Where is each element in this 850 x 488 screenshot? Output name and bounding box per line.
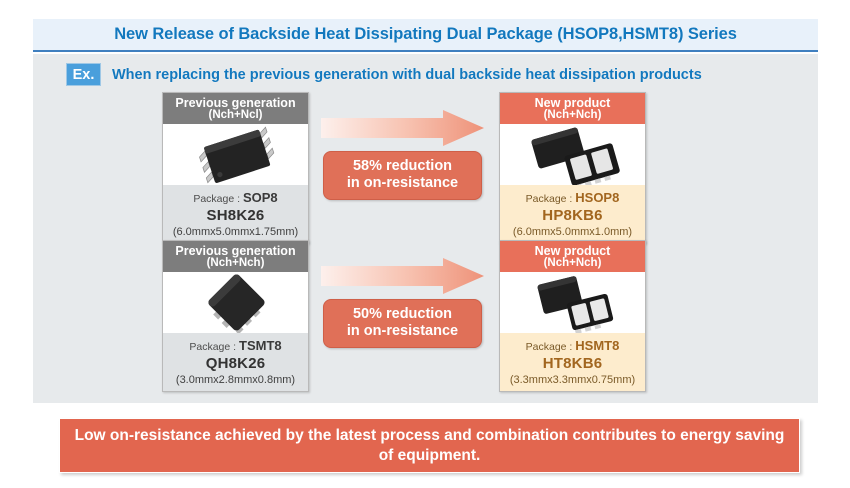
- card-header: New product (Nch+Nch): [500, 93, 645, 124]
- comparison-row: Previous generation (Nch+Nch): [33, 240, 818, 380]
- reduction-line-1: 58% reduction: [324, 158, 481, 175]
- package-line: Package : SOP8: [165, 189, 306, 207]
- package-dimensions: (3.0mmx2.8mmx0.8mm): [165, 374, 306, 386]
- example-badge: Ex.: [66, 63, 101, 86]
- new-product-card: New product (Nch+Nch): [499, 240, 646, 392]
- card-header-title: New product: [535, 97, 611, 110]
- package-dimensions: (6.0mmx5.0mmx1.75mm): [165, 226, 306, 238]
- sop8-package-photo: [163, 124, 308, 185]
- package-line: Package : TSMT8: [165, 337, 306, 355]
- card-footer: Package : HSMT8 HT8KB6 (3.3mmx3.3mmx0.75…: [500, 333, 645, 391]
- package-value: HSOP8: [575, 190, 619, 205]
- card-header-subtitle: (Nch+Nch): [207, 258, 265, 270]
- package-dimensions: (6.0mmx5.0mmx1.0mm): [502, 226, 643, 238]
- slide-root: New Release of Backside Heat Dissipating…: [0, 0, 850, 488]
- card-header: New product (Nch+Nch): [500, 241, 645, 272]
- previous-generation-card: Previous generation (Nch+Nch): [162, 240, 309, 392]
- card-header-subtitle: (Nch+Ncl): [209, 110, 263, 122]
- summary-banner-text: Low on-resistance achieved by the latest…: [74, 426, 785, 466]
- right-arrow-icon: [321, 110, 484, 146]
- slide-title-band: New Release of Backside Heat Dissipating…: [33, 19, 818, 52]
- package-label: Package :: [526, 193, 576, 205]
- right-arrow-icon: [321, 258, 484, 294]
- package-label: Package :: [526, 341, 576, 353]
- package-line: Package : HSOP8: [502, 189, 643, 207]
- tsmt8-package-photo: [163, 272, 308, 333]
- page-title: New Release of Backside Heat Dissipating…: [114, 25, 737, 44]
- reduction-line-2: in on-resistance: [324, 323, 481, 340]
- part-number: HP8KB6: [502, 208, 643, 225]
- card-header-title: New product: [535, 245, 611, 258]
- package-dimensions: (3.3mmx3.3mmx0.75mm): [502, 374, 643, 386]
- package-value: SOP8: [243, 190, 278, 205]
- example-row: Ex. When replacing the previous generati…: [66, 63, 702, 86]
- part-number: SH8K26: [165, 208, 306, 225]
- previous-generation-card: Previous generation (Nch+Ncl): [162, 92, 309, 244]
- reduction-line-1: 50% reduction: [324, 306, 481, 323]
- card-header: Previous generation (Nch+Ncl): [163, 93, 308, 124]
- package-value: HSMT8: [575, 338, 619, 353]
- reduction-badge: 58% reduction in on-resistance: [323, 151, 482, 200]
- card-header-subtitle: (Nch+Nch): [544, 110, 602, 122]
- part-number: QH8K26: [165, 356, 306, 373]
- card-header: Previous generation (Nch+Nch): [163, 241, 308, 272]
- part-number: HT8KB6: [502, 356, 643, 373]
- hsop8-package-photo: [500, 124, 645, 185]
- card-header-subtitle: (Nch+Nch): [544, 258, 602, 270]
- card-header-title: Previous generation: [175, 245, 295, 258]
- new-product-card: New product (Nch+Nch): [499, 92, 646, 244]
- card-footer: Package : SOP8 SH8K26 (6.0mmx5.0mmx1.75m…: [163, 185, 308, 243]
- content-panel: Ex. When replacing the previous generati…: [33, 54, 818, 403]
- card-footer: Package : HSOP8 HP8KB6 (6.0mmx5.0mmx1.0m…: [500, 185, 645, 243]
- card-header-title: Previous generation: [175, 97, 295, 110]
- card-footer: Package : TSMT8 QH8K26 (3.0mmx2.8mmx0.8m…: [163, 333, 308, 391]
- hsmt8-package-photo: [500, 272, 645, 333]
- summary-banner: Low on-resistance achieved by the latest…: [59, 418, 800, 473]
- package-label: Package :: [189, 341, 239, 353]
- reduction-badge: 50% reduction in on-resistance: [323, 299, 482, 348]
- example-caption: When replacing the previous generation w…: [112, 67, 702, 83]
- reduction-line-2: in on-resistance: [324, 175, 481, 192]
- package-line: Package : HSMT8: [502, 337, 643, 355]
- comparison-row: Previous generation (Nch+Ncl): [33, 92, 818, 232]
- package-value: TSMT8: [239, 338, 282, 353]
- package-label: Package :: [193, 193, 243, 205]
